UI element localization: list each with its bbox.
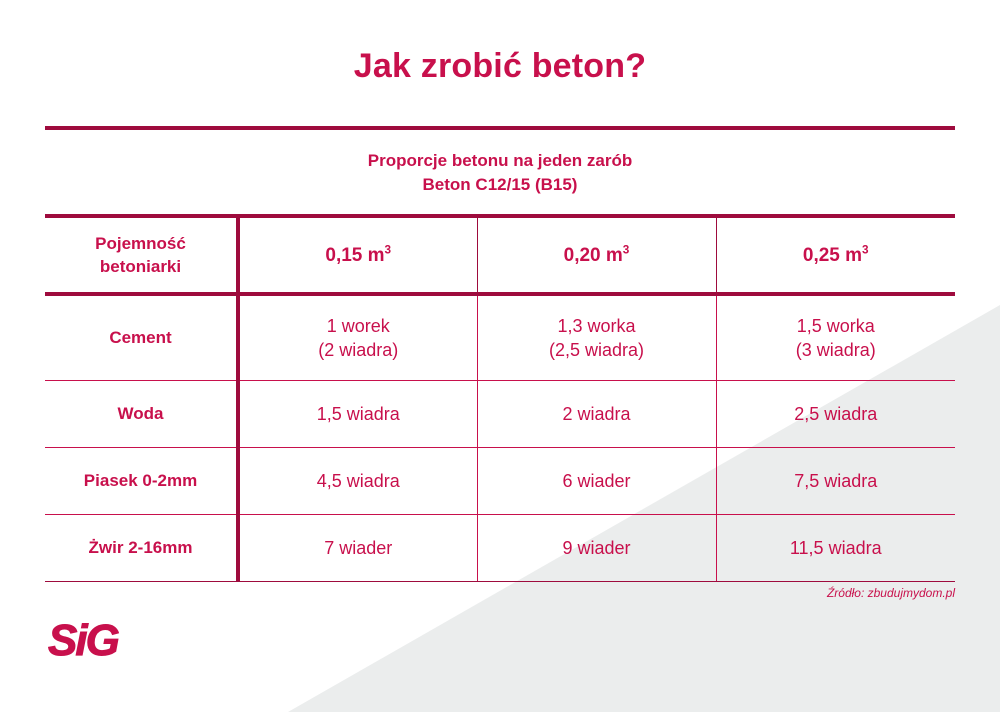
header-volume-2-value: 0,20 m bbox=[564, 245, 623, 266]
header-volume-1-unit: 3 bbox=[385, 243, 392, 256]
cell-cement-1-line-2: (2 wiadra) bbox=[240, 338, 477, 362]
cell-woda-3: 2,5 wiadra bbox=[716, 381, 955, 448]
cell-woda-1: 1,5 wiadra bbox=[238, 381, 477, 448]
sig-logo: SiG bbox=[48, 618, 158, 664]
header-volume-3-value: 0,25 m bbox=[803, 245, 862, 266]
source-note: Źródło: zbudujmydom.pl bbox=[827, 586, 955, 600]
cell-piasek-2: 6 wiader bbox=[477, 448, 716, 515]
header-volume-2-unit: 3 bbox=[623, 243, 630, 256]
row-label-piasek: Piasek 0-2mm bbox=[45, 448, 238, 515]
cell-cement-1-line-1: 1 worek bbox=[240, 314, 477, 338]
proportions-table-wrap: Pojemność betoniarki 0,15 m3 0,20 m3 0,2… bbox=[45, 214, 955, 582]
row-label-zwir: Żwir 2-16mm bbox=[45, 515, 238, 582]
proportions-table: Pojemność betoniarki 0,15 m3 0,20 m3 0,2… bbox=[45, 214, 955, 582]
header-cell-volume-2: 0,20 m3 bbox=[477, 216, 716, 294]
infographic-canvas: Jak zrobić beton? Proporcje betonu na je… bbox=[0, 0, 1000, 712]
cell-cement-2-line-1: 1,3 worka bbox=[478, 314, 716, 338]
header-cell-volume-1: 0,15 m3 bbox=[238, 216, 477, 294]
cell-piasek-3: 7,5 wiadra bbox=[716, 448, 955, 515]
sig-logo-text: SiG bbox=[48, 618, 158, 664]
cell-cement-1: 1 worek (2 wiadra) bbox=[238, 294, 477, 381]
table-header-row: Pojemność betoniarki 0,15 m3 0,20 m3 0,2… bbox=[45, 216, 955, 294]
cell-cement-3-line-1: 1,5 worka bbox=[717, 314, 956, 338]
subtitle-line-2: Beton C12/15 (B15) bbox=[0, 173, 1000, 197]
header-cell-capacity: Pojemność betoniarki bbox=[45, 216, 238, 294]
row-label-cement: Cement bbox=[45, 294, 238, 381]
cell-zwir-1: 7 wiader bbox=[238, 515, 477, 582]
cell-cement-3-line-2: (3 wiadra) bbox=[717, 338, 956, 362]
cell-woda-2: 2 wiadra bbox=[477, 381, 716, 448]
table-row: Cement 1 worek (2 wiadra) 1,3 worka (2,5… bbox=[45, 294, 955, 381]
subtitle: Proporcje betonu na jeden zarób Beton C1… bbox=[0, 149, 1000, 197]
cell-zwir-2: 9 wiader bbox=[477, 515, 716, 582]
page-title: Jak zrobić beton? bbox=[0, 47, 1000, 86]
cell-cement-2-line-2: (2,5 wiadra) bbox=[478, 338, 716, 362]
header-volume-1-value: 0,15 m bbox=[325, 245, 384, 266]
cell-zwir-3: 11,5 wiadra bbox=[716, 515, 955, 582]
cell-piasek-1: 4,5 wiadra bbox=[238, 448, 477, 515]
subtitle-line-1: Proporcje betonu na jeden zarób bbox=[0, 149, 1000, 173]
table-row: Piasek 0-2mm 4,5 wiadra 6 wiader 7,5 wia… bbox=[45, 448, 955, 515]
header-capacity-line-1: Pojemność bbox=[45, 232, 236, 255]
row-label-woda: Woda bbox=[45, 381, 238, 448]
header-capacity-line-2: betoniarki bbox=[45, 255, 236, 278]
cell-cement-3: 1,5 worka (3 wiadra) bbox=[716, 294, 955, 381]
title-divider bbox=[45, 126, 955, 130]
table-row: Woda 1,5 wiadra 2 wiadra 2,5 wiadra bbox=[45, 381, 955, 448]
table-row: Żwir 2-16mm 7 wiader 9 wiader 11,5 wiadr… bbox=[45, 515, 955, 582]
cell-cement-2: 1,3 worka (2,5 wiadra) bbox=[477, 294, 716, 381]
header-cell-volume-3: 0,25 m3 bbox=[716, 216, 955, 294]
header-volume-3-unit: 3 bbox=[862, 243, 869, 256]
